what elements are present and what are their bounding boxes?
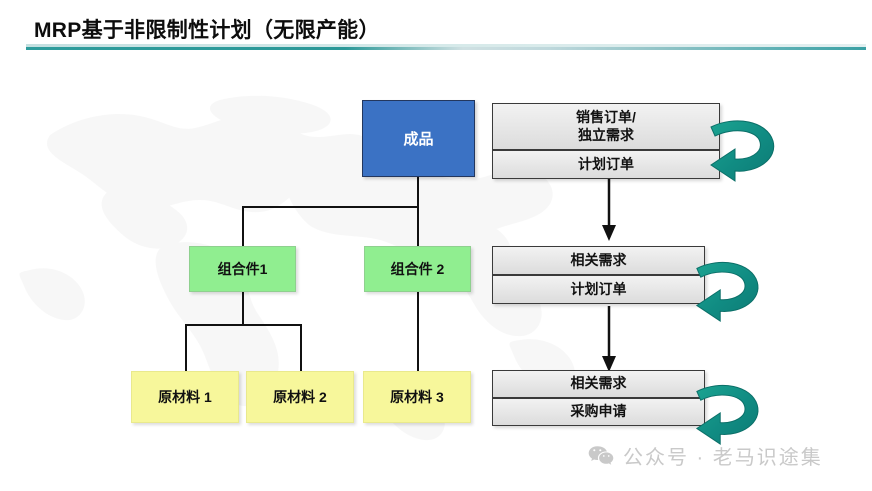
mrp-stage-1: 销售订单/ 独立需求 计划订单 — [492, 103, 720, 179]
mrp-stage-1-demand-line2: 独立需求 — [576, 127, 636, 145]
node-assembly-2-label: 组合件 2 — [391, 259, 445, 279]
node-assembly-2[interactable]: 组合件 2 — [364, 246, 471, 292]
mrp-stage-3-supply-row[interactable]: 采购申请 — [492, 398, 705, 426]
mrp-stage-2-demand-label: 相关需求 — [571, 252, 627, 270]
node-raw-material-2-label: 原材料 2 — [273, 387, 327, 407]
slide-canvas: MRP基于非限制性计划（无限产能） 成品 组合件1 组合件 2 原材料 1 原材… — [0, 0, 872, 491]
mrp-stage-2-supply-row[interactable]: 计划订单 — [492, 275, 705, 304]
connector-level1-bus — [242, 206, 419, 208]
mrp-stage-3-demand-label: 相关需求 — [571, 375, 627, 393]
mrp-stage-1-demand-row[interactable]: 销售订单/ 独立需求 — [492, 103, 720, 150]
mrp-stage-3: 相关需求 采购申请 — [492, 370, 705, 426]
connector-fp-down — [417, 177, 419, 207]
connector-assembly2-up — [417, 206, 419, 246]
node-assembly-1[interactable]: 组合件1 — [189, 246, 296, 292]
mrp-stage-2: 相关需求 计划订单 — [492, 246, 705, 304]
connector-raw3-up — [417, 292, 419, 371]
loop-arrow-stage-1 — [705, 103, 783, 183]
node-finished-product-label: 成品 — [403, 128, 433, 149]
mrp-stage-1-supply-label: 计划订单 — [578, 156, 634, 174]
mrp-stage-2-supply-label: 计划订单 — [571, 281, 627, 299]
node-raw-material-1[interactable]: 原材料 1 — [131, 371, 239, 423]
connector-assembly1-up — [242, 206, 244, 246]
wechat-icon — [588, 445, 614, 467]
page-title: MRP基于非限制性计划（无限产能） — [34, 14, 380, 44]
loop-arrow-stage-3 — [690, 368, 768, 446]
footer-watermark: 公众号 · 老马识途集 — [588, 441, 823, 470]
connector-raw2-up — [300, 324, 302, 371]
header-rule — [26, 47, 866, 50]
connector-level2-bus — [185, 324, 302, 326]
node-raw-material-2[interactable]: 原材料 2 — [246, 371, 354, 423]
arrow-down-stage-2-to-3 — [600, 306, 618, 374]
mrp-stage-3-supply-label: 采购申请 — [571, 403, 627, 421]
mrp-stage-3-demand-row[interactable]: 相关需求 — [492, 370, 705, 398]
loop-arrow-stage-2 — [690, 245, 768, 323]
mrp-stage-1-supply-row[interactable]: 计划订单 — [492, 150, 720, 179]
node-raw-material-3-label: 原材料 3 — [390, 387, 444, 407]
node-raw-material-3[interactable]: 原材料 3 — [363, 371, 471, 423]
footer-text: 公众号 · 老马识途集 — [623, 441, 823, 470]
arrow-down-stage-1-to-2 — [600, 179, 618, 243]
connector-raw1-up — [185, 324, 187, 371]
mrp-stage-2-demand-row[interactable]: 相关需求 — [492, 246, 705, 275]
node-finished-product[interactable]: 成品 — [362, 100, 475, 177]
mrp-stage-1-demand-line1: 销售订单/ — [576, 109, 636, 127]
connector-assembly1-down — [242, 292, 244, 325]
node-assembly-1-label: 组合件1 — [218, 259, 268, 279]
node-raw-material-1-label: 原材料 1 — [158, 387, 212, 407]
